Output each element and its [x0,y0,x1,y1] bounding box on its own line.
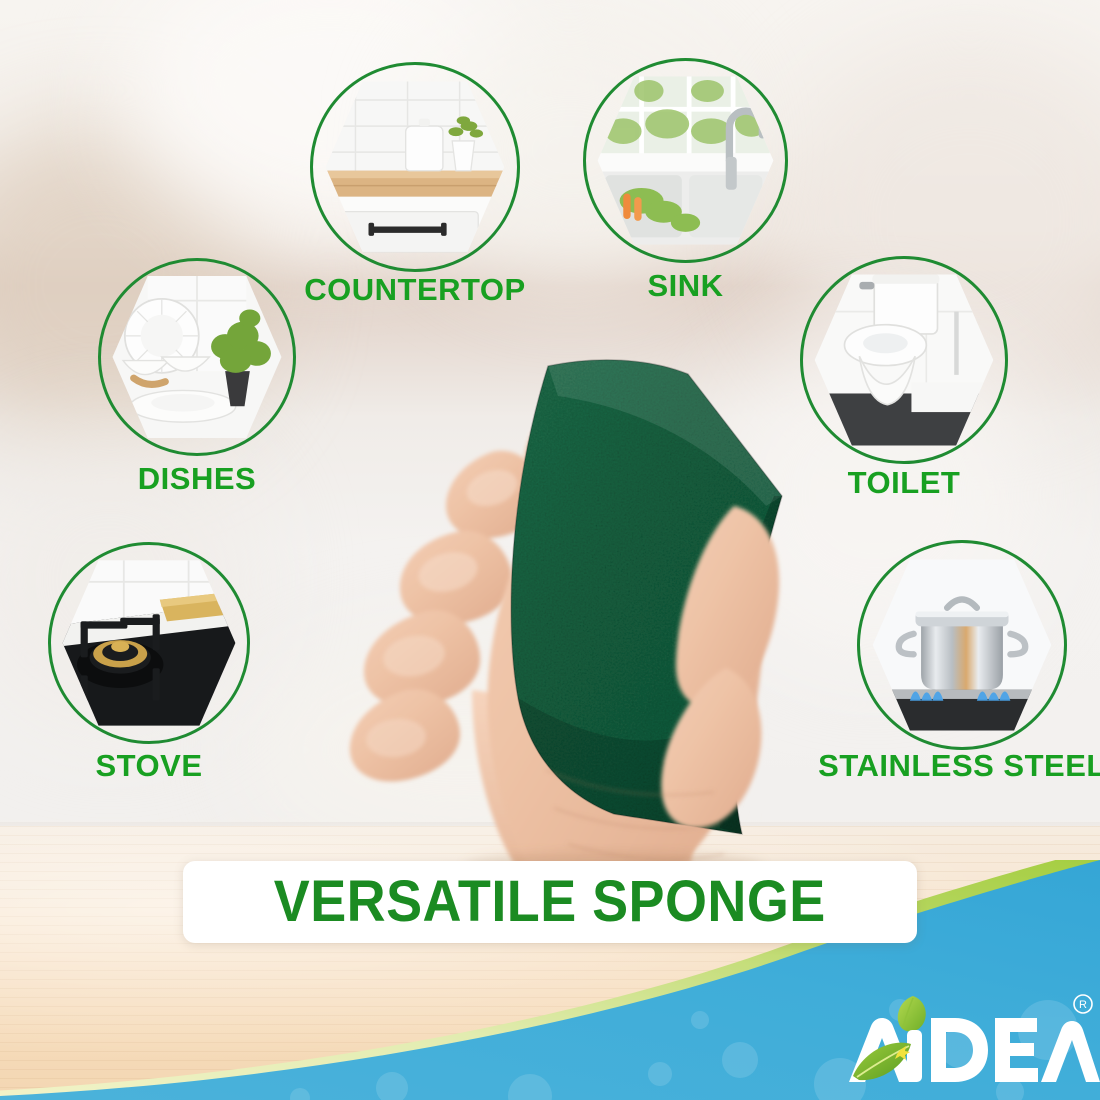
headline-plate: VERSATILE SPONGE [183,861,917,943]
feature-badge-ring-toilet [800,256,1008,464]
feature-badge-sink[interactable]: SINK [583,58,788,314]
feature-label-dishes: DISHES [138,461,256,497]
feature-badge-stove[interactable]: STOVE [48,542,250,794]
registered-mark-glyph: R [1079,999,1087,1011]
feature-badge-stainless-steel[interactable]: STAINLESS STEEL [857,540,1067,794]
feature-badge-ring-stainless-steel [857,540,1067,750]
feature-badge-ring-sink [583,58,788,263]
leaf-icon [898,996,926,1032]
feature-badge-ring-dishes [98,258,296,456]
feature-label-stainless-steel: STAINLESS STEEL [818,748,1100,784]
feature-badge-ring-countertop [310,62,520,272]
page-title: VERSATILE SPONGE [274,873,826,931]
feature-badge-ring-stove [48,542,250,744]
feature-badge-dishes[interactable]: DISHES [98,258,296,507]
product-photo-hand-with-sponge [296,300,816,860]
brand-logo: R [845,990,1100,1098]
feature-label-toilet: TOILET [848,465,961,501]
feature-label-sink: SINK [647,268,723,304]
feature-badge-toilet[interactable]: TOILET [800,256,1008,511]
feature-label-stove: STOVE [95,748,202,784]
feature-badge-countertop[interactable]: COUNTERTOP [310,62,520,318]
product-marketing-image: COUNTERTOP SINK [0,0,1100,1100]
